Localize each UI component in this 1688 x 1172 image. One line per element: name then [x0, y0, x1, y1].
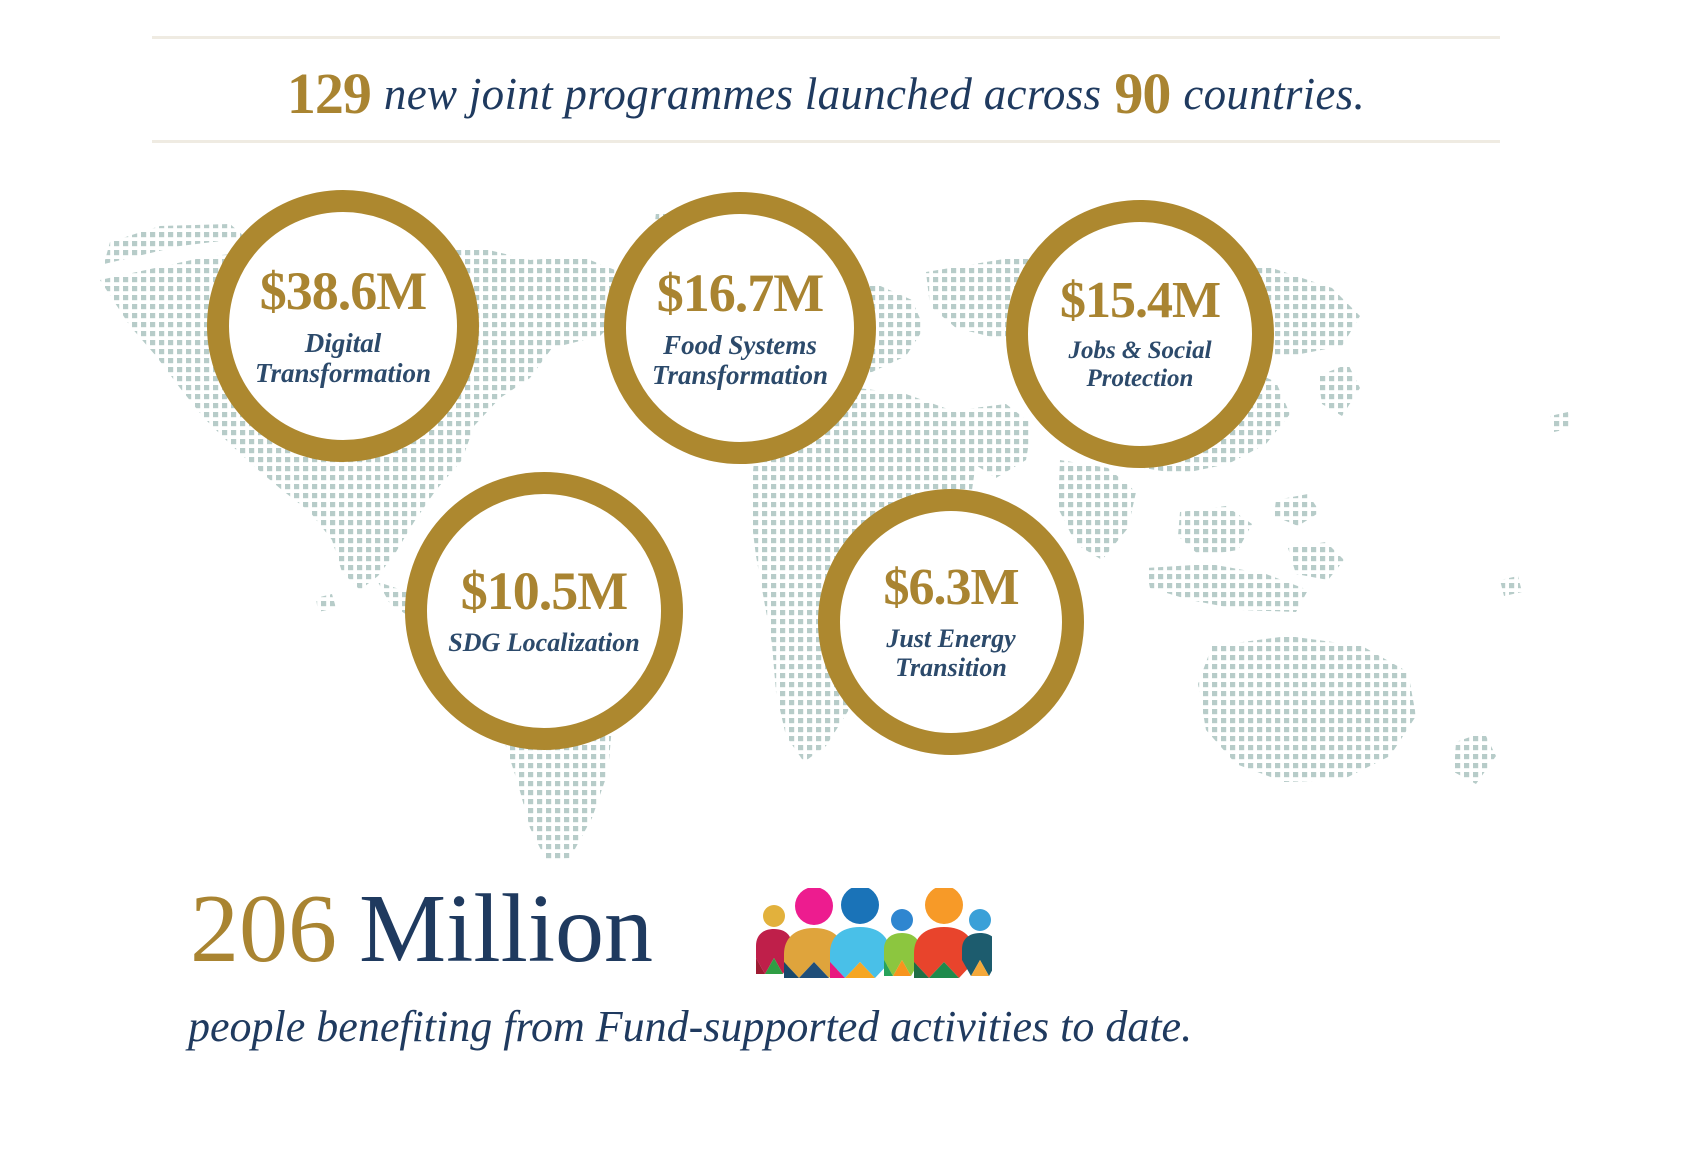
beneficiaries-stat: 206 Million: [190, 880, 653, 990]
countries-count: 90: [1114, 65, 1170, 123]
header-divider-bottom: [152, 140, 1500, 143]
metric-label: Just Energy Transition: [886, 624, 1015, 682]
beneficiaries-caption: people benefiting from Fund-supported ac…: [188, 1005, 1388, 1049]
beneficiaries-number: 206: [190, 880, 337, 978]
metric-amount: $38.6M: [260, 264, 426, 318]
headline: 129 new joint programmes launched across…: [152, 52, 1500, 136]
infographic-canvas: 129 new joint programmes launched across…: [0, 0, 1688, 1172]
metric-amount: $16.7M: [657, 266, 823, 320]
metric-circle-jobs-social-protection[interactable]: $15.4M Jobs & Social Protection: [1006, 200, 1274, 468]
headline-mid-text: new joint programmes launched across: [384, 72, 1101, 117]
metric-amount: $6.3M: [883, 562, 1018, 614]
people-group-icon: [752, 888, 992, 980]
metric-label: Food Systems Transformation: [652, 330, 828, 390]
metric-circle-sdg-localization[interactable]: $10.5M SDG Localization: [405, 472, 683, 750]
metric-circle-just-energy-transition[interactable]: $6.3M Just Energy Transition: [818, 489, 1084, 755]
metric-circle-food-systems-transformation[interactable]: $16.7M Food Systems Transformation: [604, 192, 876, 464]
headline-end-text: countries.: [1183, 72, 1365, 117]
metric-label: SDG Localization: [448, 628, 639, 657]
programmes-count: 129: [287, 65, 371, 123]
header-divider-top: [152, 36, 1500, 39]
beneficiaries-unit: Million: [359, 880, 653, 978]
metric-label: Digital Transformation: [255, 328, 431, 388]
metric-label: Jobs & Social Protection: [1068, 337, 1211, 393]
metric-circle-digital-transformation[interactable]: $38.6M Digital Transformation: [207, 190, 479, 462]
metric-amount: $15.4M: [1060, 275, 1220, 327]
metric-amount: $10.5M: [461, 564, 627, 618]
